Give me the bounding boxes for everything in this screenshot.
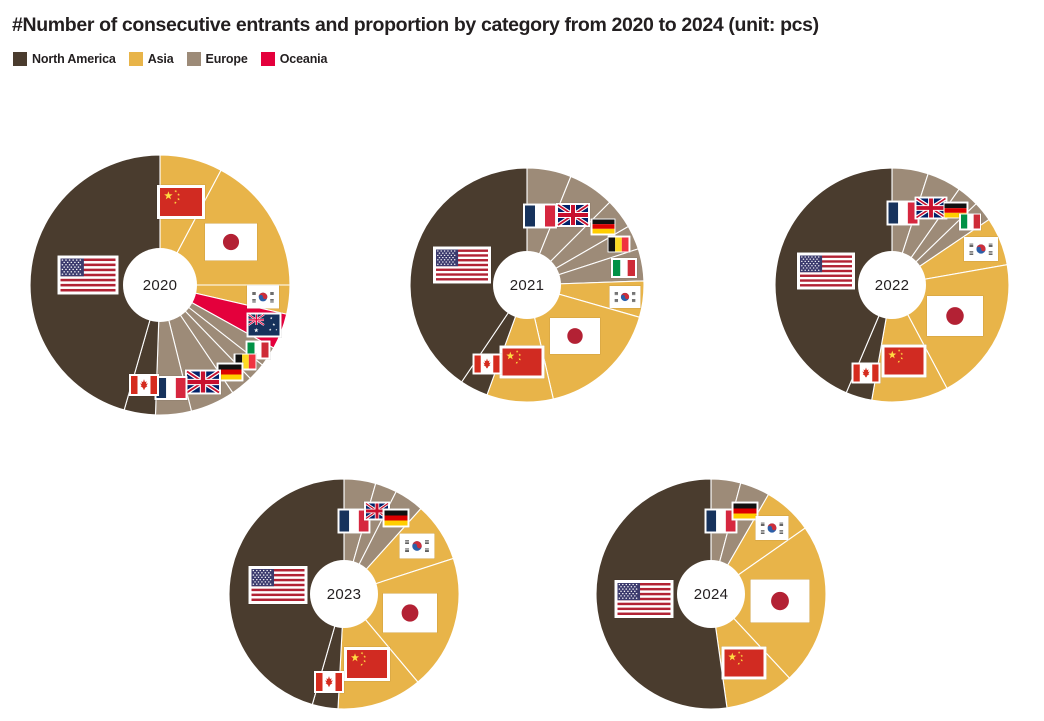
pie-center-hole bbox=[310, 560, 378, 628]
flag-icon-it[interactable] bbox=[611, 258, 637, 278]
flag-icon-jp[interactable] bbox=[750, 580, 809, 623]
flag-icon-cn[interactable] bbox=[157, 185, 205, 219]
flag-icon-jp[interactable] bbox=[550, 318, 600, 354]
flag-icon-us[interactable] bbox=[57, 255, 118, 294]
legend-item-label: Oceania bbox=[280, 52, 328, 66]
legend-swatch-icon bbox=[13, 52, 27, 66]
flag-icon-jp[interactable] bbox=[927, 296, 983, 336]
flag-icon-gb[interactable] bbox=[185, 370, 221, 395]
flag-icon-de[interactable] bbox=[383, 509, 410, 528]
flag-icon-gb[interactable] bbox=[914, 196, 947, 219]
flag-icon-fr[interactable] bbox=[154, 376, 187, 400]
page-title: #Number of consecutive entrants and prop… bbox=[12, 14, 819, 37]
legend-item-label: North America bbox=[32, 52, 116, 66]
flag-icon-cn[interactable] bbox=[500, 346, 545, 379]
legend: North AmericaAsiaEuropeOceania bbox=[13, 52, 327, 66]
flag-icon-jp[interactable] bbox=[205, 224, 257, 261]
flag-icon-us[interactable] bbox=[433, 247, 491, 284]
flag-icon-kr[interactable] bbox=[964, 237, 998, 261]
flag-icon-au[interactable] bbox=[247, 313, 282, 338]
flag-icon-kr[interactable] bbox=[609, 286, 640, 308]
pie-chart-2024: 2024 bbox=[592, 475, 830, 713]
flag-icon-be[interactable] bbox=[607, 236, 630, 253]
flag-icon-us[interactable] bbox=[248, 566, 307, 604]
pie-chart-2023: 2023 bbox=[225, 475, 463, 713]
legend-item-label: Asia bbox=[148, 52, 174, 66]
legend-item-europe[interactable]: Europe bbox=[187, 52, 248, 66]
flag-icon-kr[interactable] bbox=[247, 285, 279, 308]
flag-icon-cn[interactable] bbox=[882, 345, 927, 378]
flag-icon-us[interactable] bbox=[797, 253, 855, 290]
flag-icon-ca[interactable] bbox=[314, 671, 344, 693]
pie-chart-2021: 2021 bbox=[406, 164, 648, 406]
flag-icon-ca[interactable] bbox=[852, 362, 881, 383]
pie-center-hole bbox=[123, 248, 197, 322]
flag-icon-fr[interactable] bbox=[523, 204, 557, 229]
flag-icon-kr[interactable] bbox=[400, 534, 435, 559]
legend-item-asia[interactable]: Asia bbox=[129, 52, 174, 66]
flag-icon-us[interactable] bbox=[615, 580, 674, 618]
flag-icon-gb[interactable] bbox=[556, 203, 590, 227]
pie-chart-2020: 2020 bbox=[26, 151, 294, 419]
legend-item-label: Europe bbox=[206, 52, 248, 66]
flag-icon-cn[interactable] bbox=[721, 646, 766, 679]
flag-icon-jp[interactable] bbox=[383, 594, 437, 633]
flag-icon-ca[interactable] bbox=[472, 354, 501, 375]
flag-icon-cn[interactable] bbox=[344, 647, 390, 681]
legend-item-oceania[interactable]: Oceania bbox=[261, 52, 328, 66]
legend-swatch-icon bbox=[187, 52, 201, 66]
pie-chart-2022: 2022 bbox=[771, 164, 1013, 406]
flag-icon-it[interactable] bbox=[959, 213, 981, 230]
legend-item-north-america[interactable]: North America bbox=[13, 52, 116, 66]
flag-icon-ca[interactable] bbox=[129, 374, 159, 396]
pie-center-hole bbox=[858, 251, 926, 319]
legend-swatch-icon bbox=[129, 52, 143, 66]
legend-swatch-icon bbox=[261, 52, 275, 66]
flag-icon-kr[interactable] bbox=[755, 516, 788, 540]
chart-root: #Number of consecutive entrants and prop… bbox=[0, 0, 1044, 721]
flag-icon-de[interactable] bbox=[591, 218, 616, 235]
pie-center-hole bbox=[677, 560, 745, 628]
pie-center-hole bbox=[493, 251, 561, 319]
